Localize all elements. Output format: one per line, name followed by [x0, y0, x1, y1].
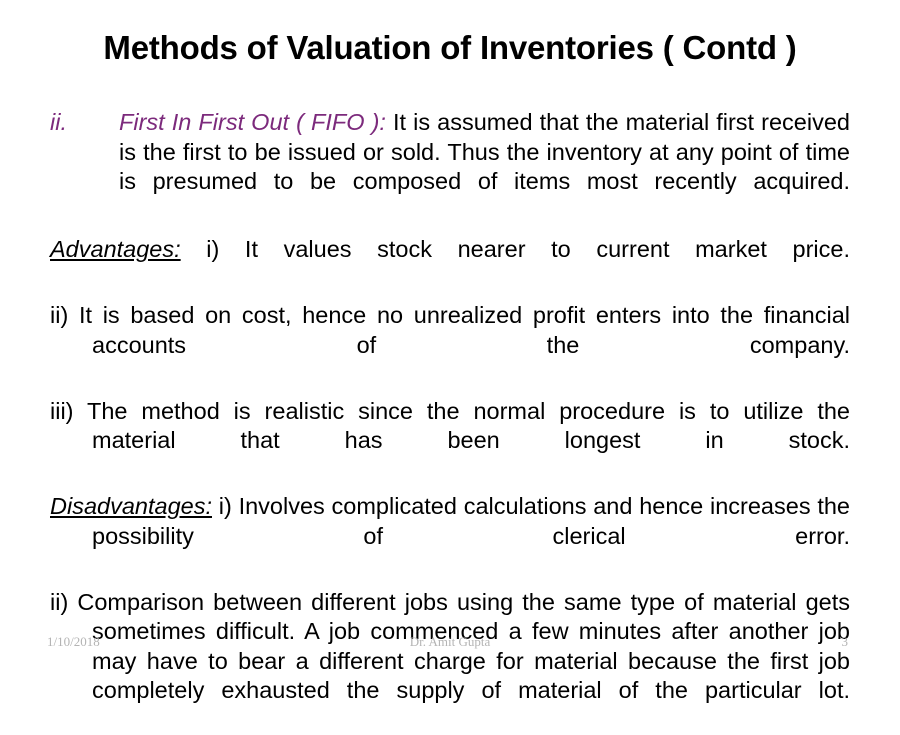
advantages-label: Advantages: — [50, 236, 181, 262]
paragraph-disadvantage-ii: ii) Comparison between different jobs us… — [50, 588, 850, 735]
paragraph-fifo: ii.First In First Out ( FIFO ): It is as… — [50, 108, 850, 226]
advantages-body-text: i) It values stock nearer to current mar… — [181, 236, 850, 262]
paragraph-disadvantages: Disadvantages: i) Involves complicated c… — [50, 492, 850, 581]
slide: Methods of Valuation of Inventories ( Co… — [0, 0, 900, 675]
paragraph-advantage-iii: iii) The method is realistic since the n… — [50, 397, 850, 486]
paragraph-advantages: Advantages: i) It values stock nearer to… — [50, 235, 850, 294]
fifo-lead-label: First In First Out ( FIFO ): — [119, 109, 386, 135]
footer-page-number: 3 — [842, 634, 849, 650]
footer-author: Dr. Amit Gupta — [0, 634, 900, 650]
slide-footer: 1/10/2018 Dr. Amit Gupta 3 — [0, 632, 900, 656]
list-marker-ii: ii. — [50, 108, 67, 138]
disadvantages-label: Disadvantages: — [50, 493, 212, 519]
page-title: Methods of Valuation of Inventories ( Co… — [40, 28, 860, 68]
paragraph-advantage-ii: ii) It is based on cost, hence no unreal… — [50, 301, 850, 390]
